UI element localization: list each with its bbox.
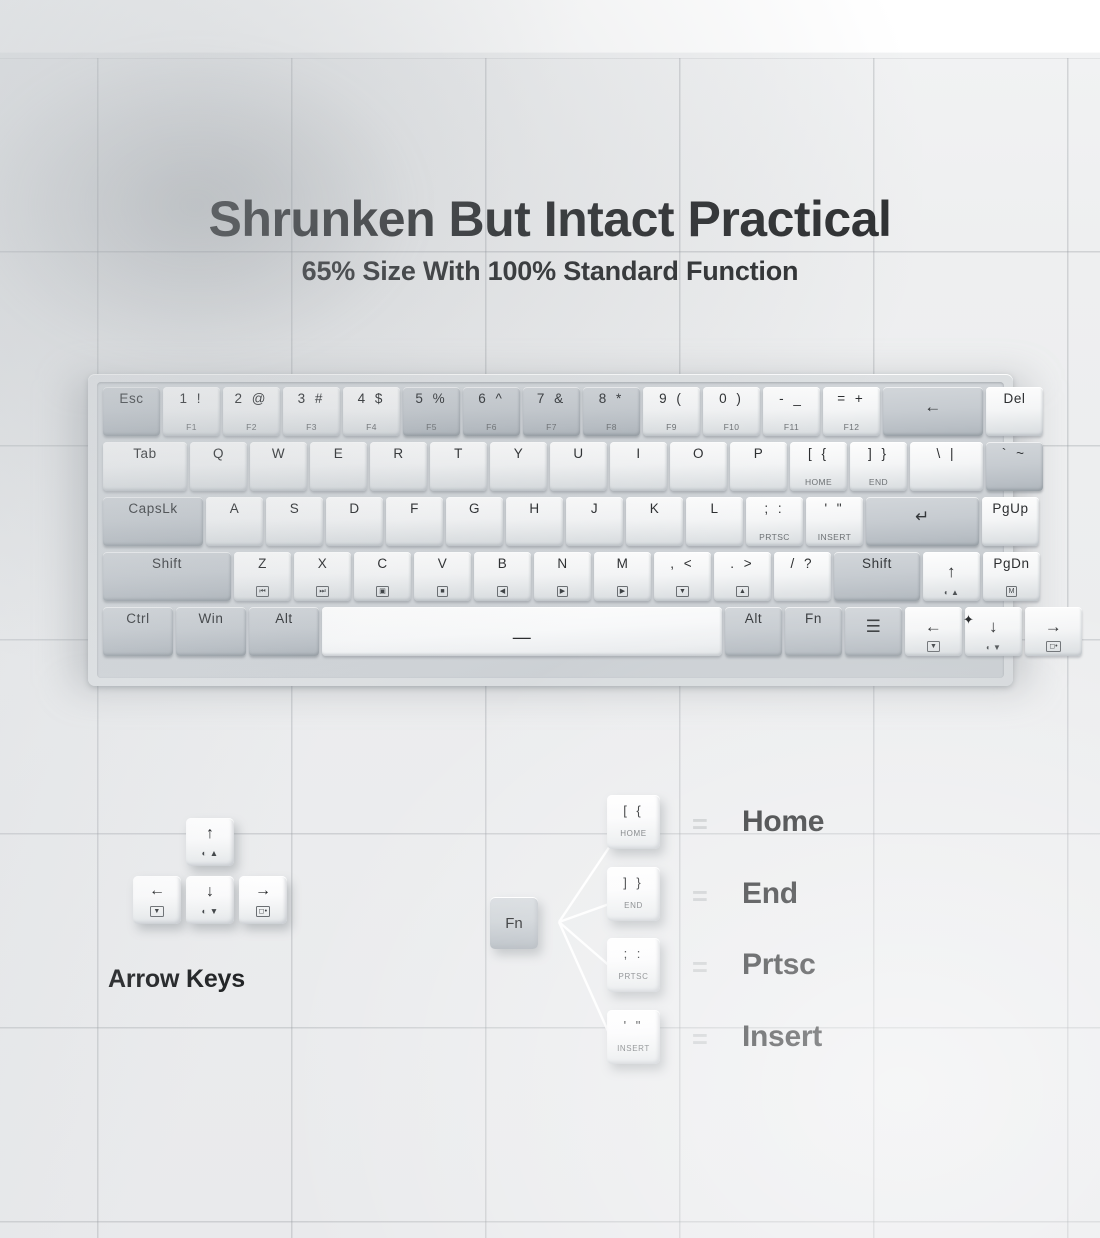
key-subicon-bright-down: ◐ ▼ (965, 644, 1022, 652)
key-subicon-bright-up: ◐ ▲ (923, 589, 980, 597)
key-sub-legend: END (850, 478, 907, 487)
key-legend: P (754, 447, 764, 461)
key-space[interactable]: ; :PRTSC (746, 497, 803, 546)
key-7[interactable]: 7 &F7 (523, 387, 580, 436)
key-e[interactable]: E (310, 442, 367, 491)
key-n[interactable]: N▶ (534, 552, 591, 601)
key-space[interactable]: , <▼ (654, 552, 711, 601)
arrow-key-subicon-backlight: ◻• (256, 905, 271, 917)
key-subicon-vol-down: ▼ (905, 641, 962, 652)
key-legend: 9 ( (659, 392, 684, 406)
keyboard-row-bottom-row: CtrlWinAlt—AltFn☰←▼↓◐ ▼→◻• (103, 607, 998, 660)
key-legend: E (334, 447, 344, 461)
key-legend: . > (730, 557, 754, 571)
key-legend: U (573, 447, 583, 461)
mouse-cursor: ✦ (963, 613, 976, 626)
key-subicon-prev-track: ⏮ (234, 586, 291, 597)
arrow-key-subicon-vol-down: ▼ (150, 905, 163, 917)
key-sub-legend: F3 (283, 423, 340, 432)
key-ctrl[interactable]: Ctrl (103, 607, 173, 656)
page-subtitle: 65% Size With 100% Standard Function (0, 256, 1100, 287)
keyboard-row-number-row: Esc1 !F12 @F23 #F34 $F45 %F56 ^F67 &F78 … (103, 387, 998, 440)
page-title: Shrunken But Intact Practical (0, 190, 1100, 248)
fn-combo-label-insert: Insert (742, 1020, 822, 1054)
key-alt[interactable]: Alt (725, 607, 782, 656)
key-legend: 8 * (599, 392, 625, 406)
key-legend: ← (924, 398, 942, 415)
key-legend: H (529, 502, 539, 516)
key-legend: → (1045, 618, 1063, 635)
key-space[interactable]: = +F12 (823, 387, 880, 436)
fn-combo-key-legend: ; : (624, 947, 644, 960)
key-legend: K (650, 502, 660, 516)
key-sub-legend: F4 (343, 423, 400, 432)
key-space[interactable]: ←▼ (905, 607, 962, 656)
key-legend: PgUp (992, 502, 1028, 516)
fn-combo-key-sub-legend: HOME (620, 829, 646, 838)
keyboard-case: Esc1 !F12 @F23 #F34 $F45 %F56 ^F67 &F78 … (88, 374, 1013, 686)
key-space[interactable]: ☰ (845, 607, 902, 656)
key-legend: ← (925, 618, 943, 635)
key-z[interactable]: Z⏮ (234, 552, 291, 601)
key-2[interactable]: 2 @F2 (223, 387, 280, 436)
key-f[interactable]: F (386, 497, 443, 546)
key-legend: Ctrl (126, 612, 149, 626)
key-sub-legend: F5 (403, 423, 460, 432)
key-j[interactable]: J (566, 497, 623, 546)
key-tab[interactable]: Tab (103, 442, 187, 491)
fn-combo-label-home: Home (742, 805, 824, 839)
arrow-key-right[interactable]: →◻• (239, 876, 287, 924)
fn-combo-key-sub-legend: END (624, 901, 643, 910)
key-legend: - _ (779, 392, 804, 406)
key-legend: 6 ^ (478, 392, 505, 406)
key-3[interactable]: 3 #F3 (283, 387, 340, 436)
spacebar-legend: — (513, 628, 532, 646)
key-legend: L (710, 502, 718, 516)
key-legend: Tab (133, 447, 157, 461)
key-legend: Fn (805, 612, 822, 626)
key-legend: = + (837, 392, 866, 406)
key-legend: 3 # (298, 392, 326, 406)
key-p[interactable]: P (730, 442, 787, 491)
key-legend: ; : (764, 502, 784, 516)
key-legend: 5 % (415, 392, 447, 406)
keyboard-row-home-row: CapsLkASDFGHJKL; :PRTSC' "INSERT↵PgUp (103, 497, 998, 550)
key-legend: Z (258, 557, 267, 571)
key-space[interactable]: / ? (774, 552, 831, 601)
equals-sign-3: = (692, 1024, 708, 1055)
fn-key[interactable]: Fn (490, 897, 538, 949)
key-legend: CapsLk (128, 502, 177, 516)
arrow-key-left[interactable]: ←▼ (133, 876, 181, 924)
key-sub-legend: F9 (643, 423, 700, 432)
key-s[interactable]: S (266, 497, 323, 546)
key-a[interactable]: A (206, 497, 263, 546)
fn-combo-key-sub-legend: INSERT (617, 1044, 650, 1053)
key-0[interactable]: 0 )F10 (703, 387, 760, 436)
key-o[interactable]: O (670, 442, 727, 491)
key-legend: N (557, 557, 567, 571)
key-legend: ☰ (866, 618, 882, 635)
key-r[interactable]: R (370, 442, 427, 491)
key-legend: / ? (790, 557, 814, 571)
key-del[interactable]: Del (986, 387, 1043, 436)
key-space[interactable]: \ | (910, 442, 983, 491)
key-6[interactable]: 6 ^F6 (463, 387, 520, 436)
key-i[interactable]: I (610, 442, 667, 491)
key-space[interactable]: ] }END (850, 442, 907, 491)
arrow-key-subicon-bright-up: ◐ ▲ (202, 848, 219, 858)
key-legend: Alt (745, 612, 763, 626)
key-sub-legend: HOME (790, 478, 847, 487)
key-legend: Y (514, 447, 524, 461)
key-x[interactable]: X⏭ (294, 552, 351, 601)
key-pgup[interactable]: PgUp (982, 497, 1039, 546)
key-legend: J (591, 502, 598, 516)
key-legend: A (230, 502, 240, 516)
key-legend: 0 ) (719, 392, 744, 406)
key-legend: V (438, 557, 448, 571)
key-legend: ↓ (989, 618, 998, 635)
key-subicon-forward: ▶ (594, 586, 651, 597)
key-subicon-backlight: ◻• (1025, 641, 1082, 652)
arrow-key-up[interactable]: ↑◐ ▲ (186, 818, 234, 866)
key-legend: 7 & (537, 392, 566, 406)
key-sub-legend: PRTSC (746, 533, 803, 542)
key-alt[interactable]: Alt (249, 607, 319, 656)
key-pgdn[interactable]: PgDnM (983, 552, 1040, 601)
key-4[interactable]: 4 $F4 (343, 387, 400, 436)
key-subicon-play-pause: ■ (414, 586, 471, 597)
key-subicon-stop: ▣ (354, 586, 411, 597)
key-space[interactable]: [ {HOME (790, 442, 847, 491)
fn-combo-key-insert[interactable]: ' "INSERT (607, 1010, 660, 1064)
key-legend: , < (670, 557, 694, 571)
key-l[interactable]: L (686, 497, 743, 546)
key-sub-legend: F7 (523, 423, 580, 432)
fn-combo-key-legend: [ { (623, 804, 644, 817)
key-v[interactable]: V■ (414, 552, 471, 601)
keyboard-row-shift-row: ShiftZ⏮X⏭C▣V■B◀N▶M▶, <▼. >▲/ ?Shift↑◐ ▲P… (103, 552, 998, 605)
fn-combo-key-home[interactable]: [ {HOME (607, 795, 660, 849)
key-sub-legend: INSERT (806, 533, 863, 542)
key-sub-legend: F12 (823, 423, 880, 432)
key-legend: 4 $ (358, 392, 386, 406)
key-fn[interactable]: Fn (785, 607, 842, 656)
key-legend: M (617, 557, 629, 571)
key-legend: C (377, 557, 387, 571)
equals-sign-2: = (692, 952, 708, 983)
fn-combo-key-sub-legend: PRTSC (619, 972, 649, 981)
keyboard-plate: Esc1 !F12 @F23 #F34 $F45 %F56 ^F67 &F78 … (97, 382, 1004, 678)
key-legend: R (393, 447, 403, 461)
key-space[interactable]: ' "INSERT (806, 497, 863, 546)
key-legend: Alt (275, 612, 293, 626)
key-legend: Q (213, 447, 224, 461)
key-legend: ` ~ (1002, 447, 1027, 461)
arrow-key-glyph: ← (149, 883, 165, 899)
key-space[interactable]: ` ~ (986, 442, 1043, 491)
key-space[interactable]: ↵ (866, 497, 979, 546)
key-u[interactable]: U (550, 442, 607, 491)
key-space[interactable]: — (322, 607, 722, 656)
fn-key-label: Fn (505, 916, 523, 931)
key-sub-legend: F1 (163, 423, 220, 432)
arrow-keys-caption: Arrow Keys (108, 965, 245, 994)
key-legend: \ | (936, 447, 956, 461)
fn-combo-key-prtsc[interactable]: ; :PRTSC (607, 938, 660, 992)
key-space[interactable]: →◻• (1025, 607, 1082, 656)
key-sub-legend: F11 (763, 423, 820, 432)
key-legend: W (272, 447, 285, 461)
key-subicon-rewind: ◀ (474, 586, 531, 597)
key-legend: S (290, 502, 300, 516)
key-sub-legend: F8 (583, 423, 640, 432)
fn-combo-key-legend: ' " (624, 1019, 644, 1032)
key-y[interactable]: Y (490, 442, 547, 491)
key-space[interactable]: - _F11 (763, 387, 820, 436)
equals-sign-1: = (692, 881, 708, 912)
key-space[interactable]: ↑◐ ▲ (923, 552, 980, 601)
key-legend: PgDn (993, 557, 1029, 571)
arrow-key-down[interactable]: ↓◐ ▼ (186, 876, 234, 924)
key-subicon-next-track: ⏭ (294, 586, 351, 597)
key-capslk[interactable]: CapsLk (103, 497, 203, 546)
key-t[interactable]: T (430, 442, 487, 491)
arrow-key-glyph: → (255, 883, 271, 899)
key-win[interactable]: Win (176, 607, 246, 656)
key-legend: ↑ (947, 563, 956, 580)
key-legend: T (454, 447, 463, 461)
key-legend: 2 @ (235, 392, 269, 406)
key-legend: F (410, 502, 419, 516)
key-sub-legend: F10 (703, 423, 760, 432)
key-b[interactable]: B◀ (474, 552, 531, 601)
keyboard-row-tab-row: TabQWERTYUIOP[ {HOME] }END\ |` ~ (103, 442, 998, 495)
key-m[interactable]: M▶ (594, 552, 651, 601)
fn-combo-key-legend: ] } (623, 876, 644, 889)
arrow-key-glyph: ↓ (206, 884, 214, 900)
key-5[interactable]: 5 %F5 (403, 387, 460, 436)
key-subicon-vol-up: ▲ (714, 586, 771, 597)
key-h[interactable]: H (506, 497, 563, 546)
key-g[interactable]: G (446, 497, 503, 546)
key-sub-legend: F2 (223, 423, 280, 432)
fn-combo-label-prtsc: Prtsc (742, 948, 816, 982)
key-8[interactable]: 8 *F8 (583, 387, 640, 436)
arrow-key-subicon-bright-down: ◐ ▼ (202, 906, 219, 916)
key-w[interactable]: W (250, 442, 307, 491)
key-legend: B (498, 557, 508, 571)
key-legend: G (469, 502, 480, 516)
key-9[interactable]: 9 (F9 (643, 387, 700, 436)
key-sub-legend: F6 (463, 423, 520, 432)
key-space[interactable]: . >▲ (714, 552, 771, 601)
key-esc[interactable]: Esc (103, 387, 160, 436)
key-legend: [ { (808, 447, 829, 461)
key-legend: Esc (119, 392, 143, 406)
fn-combo-key-end[interactable]: ] }END (607, 867, 660, 921)
key-shift[interactable]: Shift (834, 552, 920, 601)
equals-sign-0: = (692, 809, 708, 840)
fn-combo-label-end: End (742, 877, 798, 911)
key-legend: X (318, 557, 328, 571)
key-q[interactable]: Q (190, 442, 247, 491)
key-d[interactable]: D (326, 497, 383, 546)
key-legend: ' " (824, 502, 844, 516)
key-legend: O (693, 447, 704, 461)
key-legend: ] } (868, 447, 889, 461)
key-legend: D (349, 502, 359, 516)
key-legend: Shift (152, 557, 182, 571)
product-infographic: Shrunken But Intact Practical 65% Size W… (0, 0, 1100, 1238)
key-legend: ↵ (915, 508, 930, 525)
key-subicon-forward: ▶ (534, 586, 591, 597)
key-legend: I (636, 447, 640, 461)
key-legend: Del (1003, 392, 1025, 406)
key-legend: Shift (862, 557, 892, 571)
key-subicon-vol-down: ▼ (654, 586, 711, 597)
arrow-key-glyph: ↑ (206, 826, 214, 842)
key-legend: Win (198, 612, 223, 626)
key-space[interactable]: ← (883, 387, 983, 436)
key-shift[interactable]: Shift (103, 552, 231, 601)
key-c[interactable]: C▣ (354, 552, 411, 601)
key-1[interactable]: 1 !F1 (163, 387, 220, 436)
key-k[interactable]: K (626, 497, 683, 546)
key-legend: 1 ! (179, 392, 203, 406)
key-subicon-m-box: M (983, 586, 1040, 597)
